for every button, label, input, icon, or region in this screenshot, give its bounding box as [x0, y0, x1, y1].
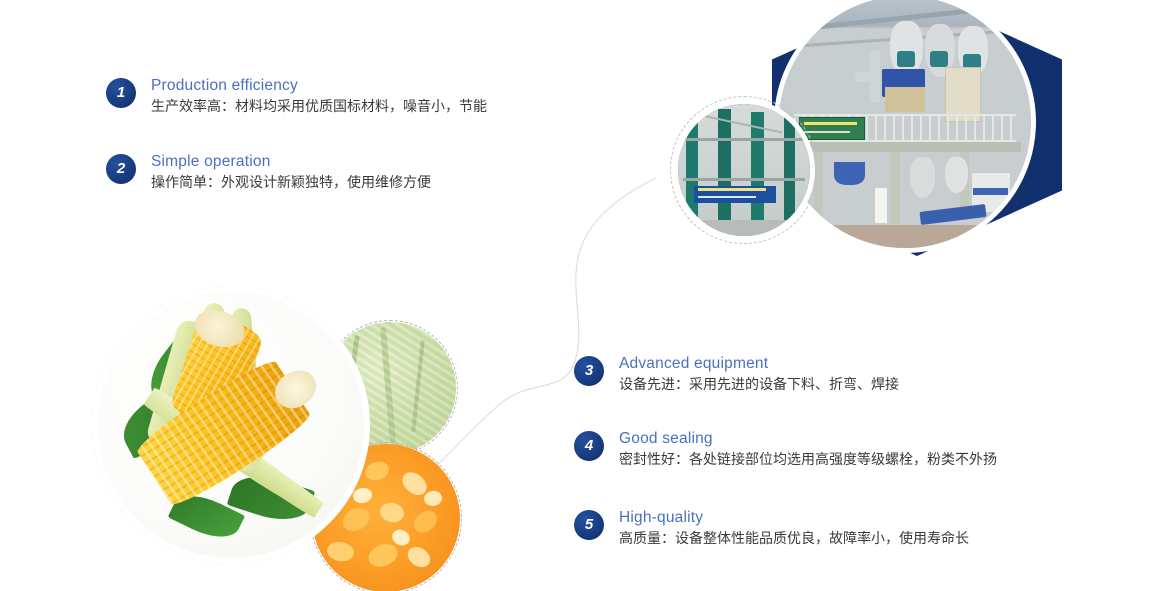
feature-desc-zh: 高质量：设备整体性能品质优良，故障率小，使用寿命长 — [619, 529, 969, 550]
feature-item-4[interactable]: 4 Good sealing 密封性好：各处链接部位均选用高强度等级螺栓，粉类不… — [574, 429, 997, 471]
feature-item-2[interactable]: 2 Simple operation 操作简单：外观设计新颖独特，使用维修方便 — [106, 152, 431, 194]
feature-item-5[interactable]: 5 High-quality 高质量：设备整体性能品质优良，故障率小，使用寿命长 — [574, 508, 969, 550]
feature-desc-zh: 密封性好：各处链接部位均选用高强度等级螺栓，粉类不外扬 — [619, 450, 997, 471]
produce-photo-group — [86, 282, 496, 591]
feature-desc-zh: 生产效率高：材料均采用优质国标材料，噪音小，节能 — [151, 97, 487, 118]
green-machinery-photo — [678, 104, 810, 236]
feature-badge-number: 5 — [574, 510, 604, 540]
feature-text-block: Advanced equipment 设备先进：采用先进的设备下料、折弯、焊接 — [619, 354, 899, 396]
feature-badge-number: 3 — [574, 356, 604, 386]
feature-badge-number: 1 — [106, 78, 136, 108]
feature-title-en: High-quality — [619, 508, 969, 527]
flour-milling-plant-photo — [779, 0, 1031, 248]
feature-text-block: Good sealing 密封性好：各处链接部位均选用高强度等级螺栓，粉类不外扬 — [619, 429, 997, 471]
feature-desc-zh: 操作简单：外观设计新颖独特，使用维修方便 — [151, 173, 431, 194]
feature-badge-number: 4 — [574, 431, 604, 461]
feature-text-block: Production efficiency 生产效率高：材料均采用优质国标材料，… — [151, 76, 487, 118]
infographic-page: 1 Production efficiency 生产效率高：材料均采用优质国标材… — [0, 0, 1154, 591]
feature-title-en: Advanced equipment — [619, 354, 899, 373]
feature-desc-zh: 设备先进：采用先进的设备下料、折弯、焊接 — [619, 375, 899, 396]
feature-text-block: Simple operation 操作简单：外观设计新颖独特，使用维修方便 — [151, 152, 431, 194]
feature-title-en: Good sealing — [619, 429, 997, 448]
feature-title-en: Simple operation — [151, 152, 431, 171]
feature-title-en: Production efficiency — [151, 76, 487, 95]
hexagon-photo-group — [662, 0, 1062, 262]
feature-item-3[interactable]: 3 Advanced equipment 设备先进：采用先进的设备下料、折弯、焊… — [574, 354, 899, 396]
feature-item-1[interactable]: 1 Production efficiency 生产效率高：材料均采用优质国标材… — [106, 76, 487, 118]
corn-cobs-photo — [98, 292, 364, 558]
feature-badge-number: 2 — [106, 154, 136, 184]
feature-text-block: High-quality 高质量：设备整体性能品质优良，故障率小，使用寿命长 — [619, 508, 969, 550]
